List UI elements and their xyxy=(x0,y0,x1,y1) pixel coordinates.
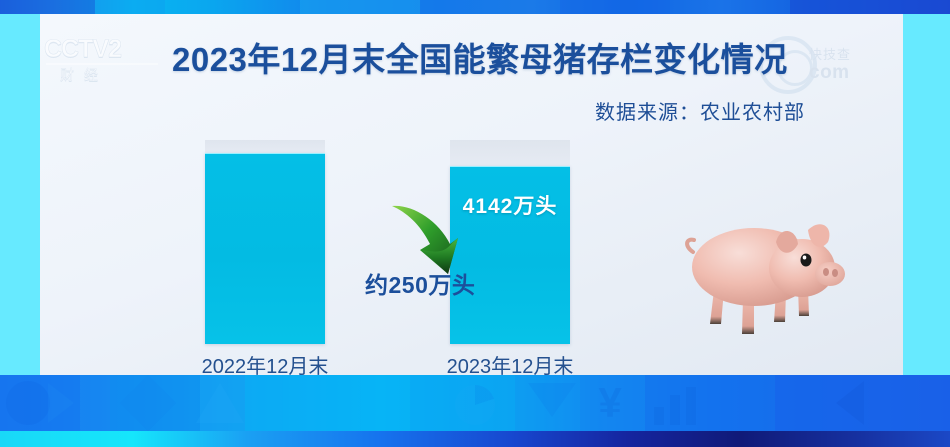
yen-icon: ¥ xyxy=(588,379,632,427)
bottom-decor-band: ¥ xyxy=(0,375,950,447)
bar-2022[interactable] xyxy=(205,153,325,344)
chevron-left-icon xyxy=(836,381,864,425)
broadcast-chart-screen: CCTV2 财经 快技查 com 2023年12月末全国能繁母猪存栏变化情况 数… xyxy=(0,0,950,447)
bar-ghost-top-0 xyxy=(205,140,325,154)
bar-chart: 2022年12月末 4142万头 2023年12月末 xyxy=(40,14,903,375)
pig-illustration xyxy=(680,212,855,342)
delta-annotation-label: 约250万头 xyxy=(365,266,475,300)
top-decor-bar xyxy=(0,0,950,14)
bar-ghost-top-1 xyxy=(450,140,570,167)
chevron-down-icon xyxy=(528,383,576,417)
triangle-icon xyxy=(196,383,244,423)
circle-icon xyxy=(6,381,50,425)
chevron-icon xyxy=(48,383,74,423)
left-accent-strip xyxy=(0,14,40,375)
bottom-base-strip xyxy=(0,431,950,447)
pie-chart-icon xyxy=(455,385,495,425)
bar-chart-icon xyxy=(652,385,700,425)
right-accent-strip xyxy=(903,14,950,375)
